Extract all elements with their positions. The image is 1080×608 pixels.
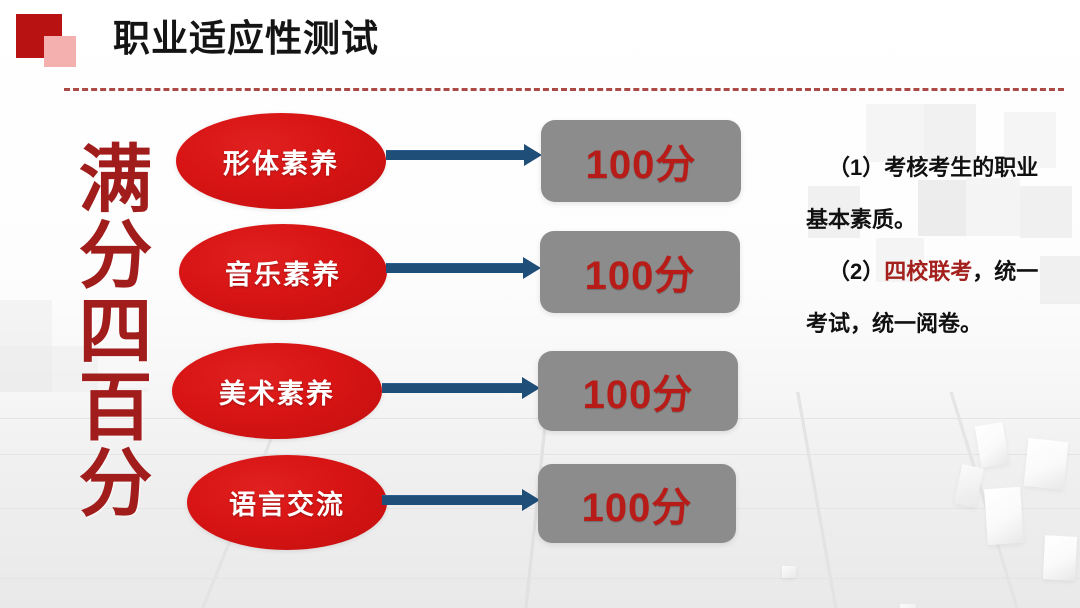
score-box-2[interactable]: 100分 xyxy=(540,231,740,313)
note-line-3-suffix: ，统一 xyxy=(972,259,1038,284)
total-score-vertical-label: 满分四百分 xyxy=(52,140,144,520)
note-line-2: 基本素质。 xyxy=(806,194,1072,246)
score-value: 100分 xyxy=(582,475,693,533)
score-box-3[interactable]: 100分 xyxy=(538,351,738,431)
bg-paper-shape xyxy=(1043,535,1077,581)
notes-block: （1）考核考生的职业 基本素质。 （2）四校联考，统一 考试，统一阅卷。 xyxy=(806,142,1072,350)
score-box-1[interactable]: 100分 xyxy=(541,120,741,202)
subject-label: 语言交流 xyxy=(229,483,345,522)
note-highlight: 四校联考 xyxy=(884,259,972,284)
note-line-1: （1）考核考生的职业 xyxy=(806,142,1072,194)
score-value: 100分 xyxy=(583,362,694,420)
subject-ellipse-4[interactable]: 语言交流 xyxy=(187,455,387,550)
bg-paper-shape xyxy=(782,566,796,578)
flow-arrow-4 xyxy=(382,488,540,512)
note-line-3: （2）四校联考，统一 xyxy=(806,246,1072,298)
flow-arrow-2 xyxy=(386,256,541,280)
page-title: 职业适应性测试 xyxy=(113,14,379,64)
note-line-4: 考试，统一阅卷。 xyxy=(806,298,1072,350)
subject-label: 美术素养 xyxy=(219,372,335,411)
subject-label: 音乐素养 xyxy=(225,253,341,292)
slide-canvas: 职业适应性测试 满分四百分 形体素养 100分 音乐素养 100分 美术素养 xyxy=(0,0,1080,608)
subject-ellipse-3[interactable]: 美术素养 xyxy=(172,343,382,439)
subject-ellipse-1[interactable]: 形体素养 xyxy=(176,113,386,209)
flow-arrow-1 xyxy=(386,143,542,167)
score-box-4[interactable]: 100分 xyxy=(538,464,736,543)
score-value: 100分 xyxy=(585,243,696,301)
score-value: 100分 xyxy=(586,132,697,190)
title-divider xyxy=(64,88,1064,91)
bg-paper-shape xyxy=(1024,438,1069,490)
bg-mosaic-block xyxy=(0,346,52,392)
bg-mosaic-block xyxy=(0,300,52,346)
flow-arrow-3 xyxy=(382,376,540,400)
bg-paper-shape xyxy=(900,604,916,608)
note-line-3-prefix: （2） xyxy=(828,259,884,284)
logo-square-light xyxy=(44,36,76,67)
bg-paper-shape xyxy=(984,487,1024,545)
subject-ellipse-2[interactable]: 音乐素养 xyxy=(179,224,387,320)
subject-label: 形体素养 xyxy=(223,142,339,181)
